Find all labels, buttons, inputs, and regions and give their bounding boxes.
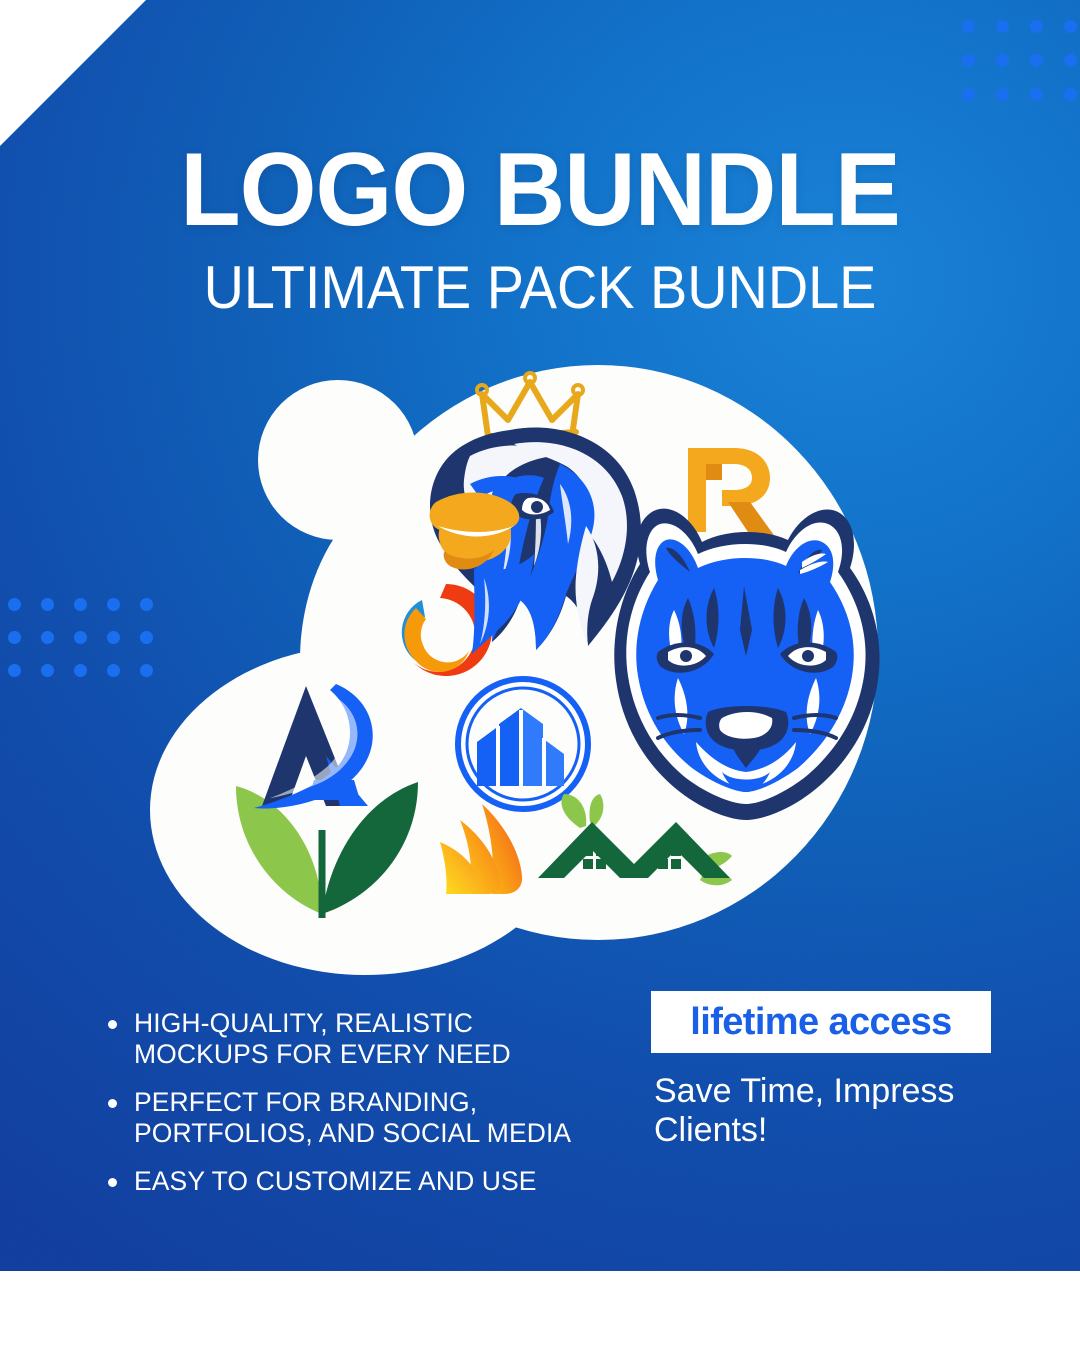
panther-mascot-logo [596,502,898,828]
feature-text: EASY TO CUSTOMIZE AND USE [134,1166,537,1197]
list-item: HIGH-QUALITY, REALISTIC MOCKUPS FOR EVER… [108,1008,578,1070]
poster-canvas: LOGO BUNDLE ULTIMATE PACK BUNDLE HIGH-QU… [0,0,1080,1350]
page-subtitle: ULTIMATE PACK BUNDLE [38,258,1042,318]
list-item: PERFECT FOR BRANDING, PORTFOLIOS, AND SO… [108,1087,578,1149]
feature-text: HIGH-QUALITY, REALISTIC MOCKUPS FOR EVER… [134,1008,578,1070]
lifetime-access-badge: lifetime access [651,991,991,1053]
bullet-icon [108,1099,117,1108]
bullet-icon [108,1178,117,1187]
bullet-icon [108,1020,117,1029]
badge-label: lifetime access [690,1001,951,1044]
list-item: EASY TO CUSTOMIZE AND USE [108,1166,578,1197]
feature-text: PERFECT FOR BRANDING, PORTFOLIOS, AND SO… [134,1087,578,1149]
promo-tagline: Save Time, Impress Clients! [654,1072,1004,1151]
page-title: LOGO BUNDLE [27,138,1053,242]
feature-list: HIGH-QUALITY, REALISTIC MOCKUPS FOR EVER… [108,1008,578,1214]
orange-wing-logo [420,800,540,896]
letter-a-leaf-logo [218,660,436,918]
